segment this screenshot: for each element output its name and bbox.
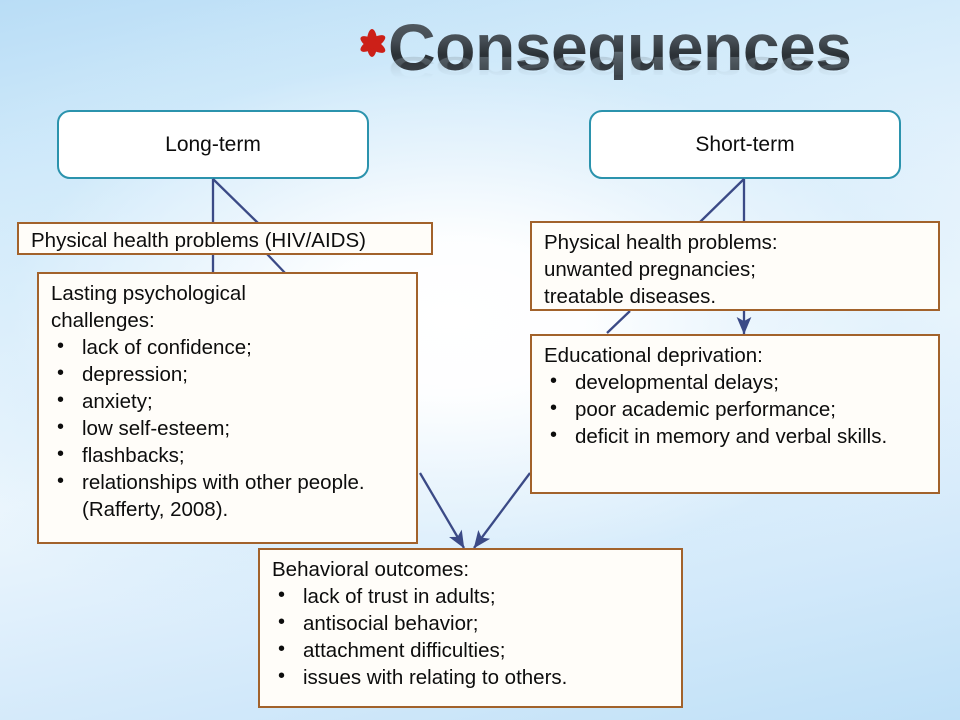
page-title-reflection: Consequences <box>388 52 851 86</box>
list-item: lack of confidence; <box>51 334 406 361</box>
page-title: Consequences Consequences <box>340 8 860 112</box>
header-box-short-term[interactable]: Short-term <box>589 110 901 179</box>
box-educational-deprivation-heading: Educational deprivation: <box>544 342 928 369</box>
list-item: depression; <box>51 361 406 388</box>
box-educational-deprivation-list: developmental delays; poor academic perf… <box>544 369 928 450</box>
list-item: poor academic performance; <box>544 396 928 423</box>
list-item: anxiety; <box>51 388 406 415</box>
box-educational-deprivation[interactable]: Educational deprivation: developmental d… <box>530 334 940 494</box>
list-item: attachment difficulties; <box>272 637 671 664</box>
list-item: issues with relating to others. <box>272 664 671 691</box>
box-lasting-psychological-challenges-heading: Lasting psychological challenges: <box>51 280 406 334</box>
list-item: developmental delays; <box>544 369 928 396</box>
box-behavioral-outcomes-heading: Behavioral outcomes: <box>272 556 671 583</box>
header-box-short-term-label: Short-term <box>695 133 794 157</box>
slide-canvas: Consequences Consequences Long-term Shor… <box>0 0 960 720</box>
list-item: deficit in memory and verbal skills. <box>544 423 928 450</box>
list-item: lack of trust in adults; <box>272 583 671 610</box>
box-physical-health-long-term-heading: Physical health problems (HIV/AIDS) <box>31 227 421 254</box>
box-physical-health-short-term[interactable]: Physical health problems: unwanted pregn… <box>530 221 940 311</box>
connector-shortterm-diagonal <box>700 179 744 222</box>
list-item: low self-esteem; <box>51 415 406 442</box>
header-box-long-term[interactable]: Long-term <box>57 110 369 179</box>
connector-longterm-diagonal-a <box>213 179 259 224</box>
box-physical-health-long-term[interactable]: Physical health problems (HIV/AIDS) <box>17 222 433 255</box>
box-behavioral-outcomes-list: lack of trust in adults; antisocial beha… <box>272 583 671 691</box>
box-lasting-psychological-challenges[interactable]: Lasting psychological challenges: lack o… <box>37 272 418 544</box>
connector-educational-to-behavioral <box>474 473 530 548</box>
box-behavioral-outcomes[interactable]: Behavioral outcomes: lack of trust in ad… <box>258 548 683 708</box>
connector-longterm-diagonal-b <box>267 254 286 274</box>
box-physical-health-short-term-heading: Physical health problems: unwanted pregn… <box>544 229 928 310</box>
list-item: relationships with other people. (Raffer… <box>51 469 406 523</box>
list-item: antisocial behavior; <box>272 610 671 637</box>
connector-physicalshort-diagonal-left <box>607 311 630 333</box>
box-lasting-psychological-challenges-list: lack of confidence; depression; anxiety;… <box>51 334 406 523</box>
list-item: flashbacks; <box>51 442 406 469</box>
connector-psychological-to-behavioral <box>420 473 464 548</box>
header-box-long-term-label: Long-term <box>165 133 261 157</box>
